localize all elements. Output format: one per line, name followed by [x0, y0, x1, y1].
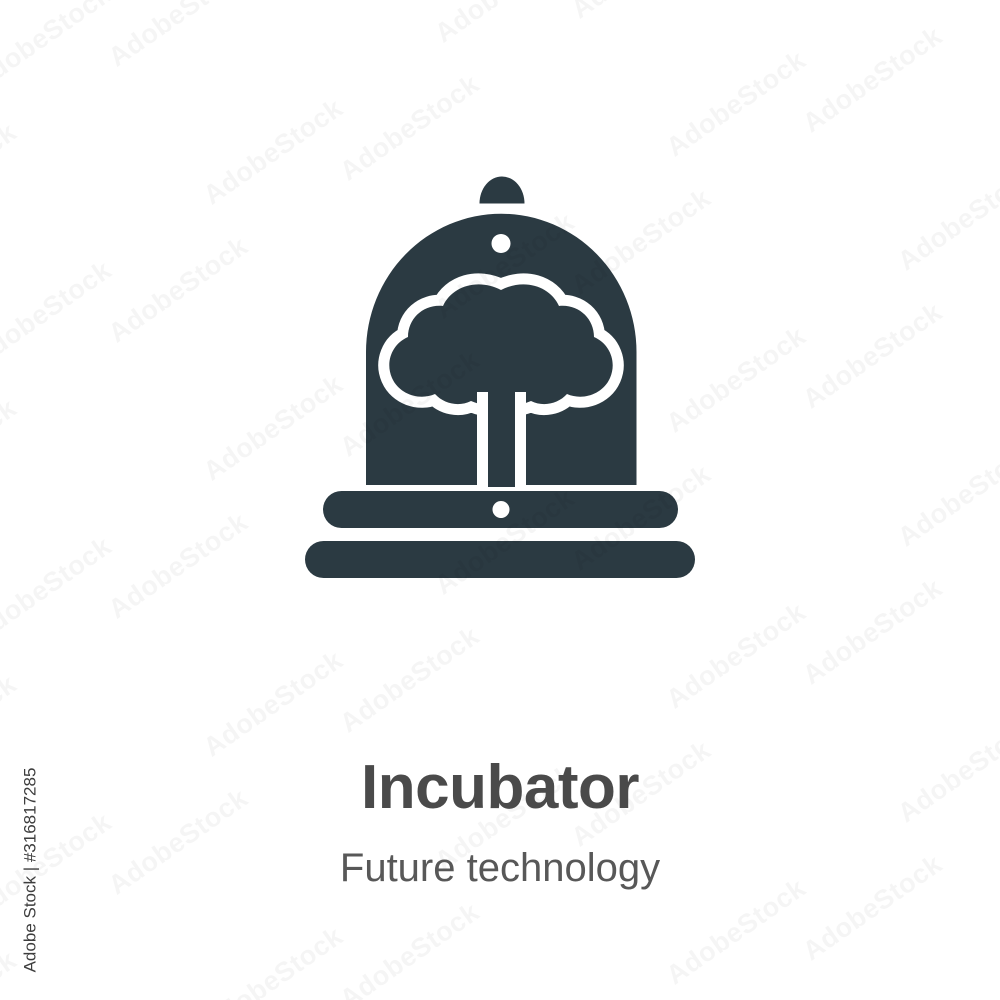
- tree-trunk: [488, 380, 515, 487]
- knob-semicircle: [480, 177, 525, 204]
- caption-block: Incubator Future technology: [0, 755, 1000, 890]
- stock-credit-text: Adobe Stock | #316817285: [20, 768, 40, 973]
- screenshot-canvas: Incubator Future technology AdobeStockAd…: [0, 0, 1000, 1000]
- page-title: Incubator: [0, 755, 1000, 820]
- lower-base-bar: [305, 541, 695, 578]
- stock-credit: Adobe Stock | #316817285: [10, 0, 50, 1000]
- upper-base-bar: [323, 491, 678, 528]
- page-subtitle: Future technology: [0, 846, 1000, 890]
